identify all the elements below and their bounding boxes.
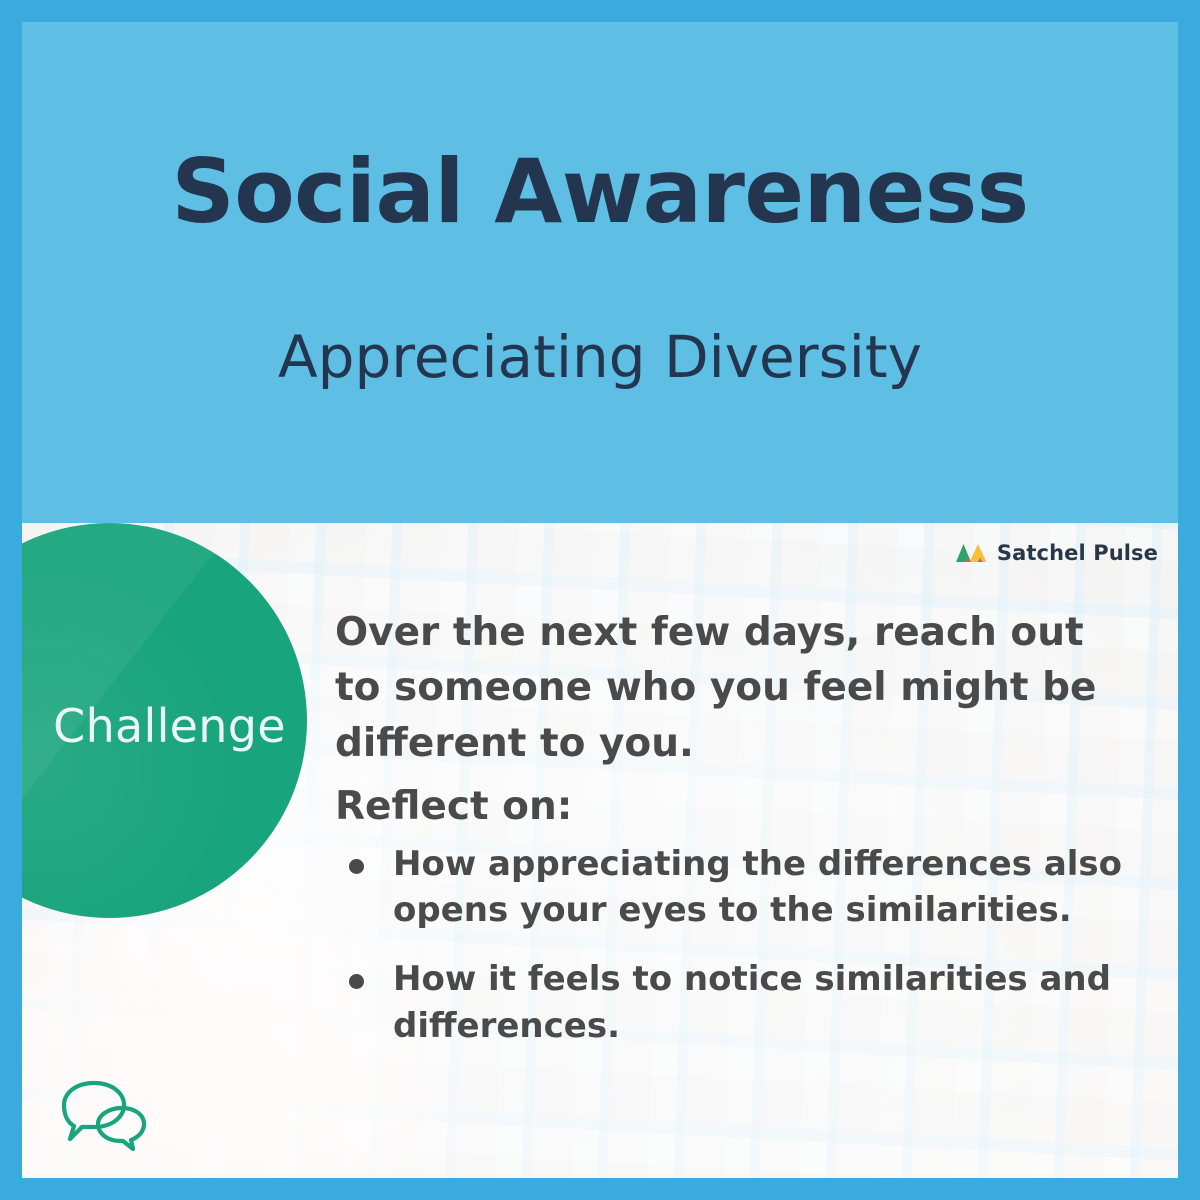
reflect-heading: Reflect on: — [335, 779, 1135, 834]
chat-bubbles-icon — [54, 1076, 154, 1156]
reflection-bullet-list: How appreciating the differences also op… — [335, 841, 1135, 1051]
challenge-lead-text: Over the next few days, reach out to som… — [335, 605, 1135, 771]
list-item: How it feels to notice similarities and … — [335, 956, 1135, 1050]
brand-lockup: Satchel Pulse — [955, 541, 1158, 565]
list-item: How appreciating the differences also op… — [335, 841, 1135, 935]
brand-name: Satchel Pulse — [997, 541, 1158, 565]
satchel-pulse-logo-icon — [955, 542, 989, 564]
card-header: Social Awareness Appreciating Diversity — [22, 22, 1178, 523]
challenge-badge-label: Challenge — [53, 699, 286, 753]
page-subtitle: Appreciating Diversity — [278, 328, 922, 386]
page-title: Social Awareness — [171, 148, 1028, 236]
challenge-panel: Challenge Satchel Pulse Over the next fe… — [22, 523, 1178, 1178]
social-awareness-card: Social Awareness Appreciating Diversity … — [0, 0, 1200, 1200]
challenge-content: Over the next few days, reach out to som… — [335, 605, 1135, 1072]
